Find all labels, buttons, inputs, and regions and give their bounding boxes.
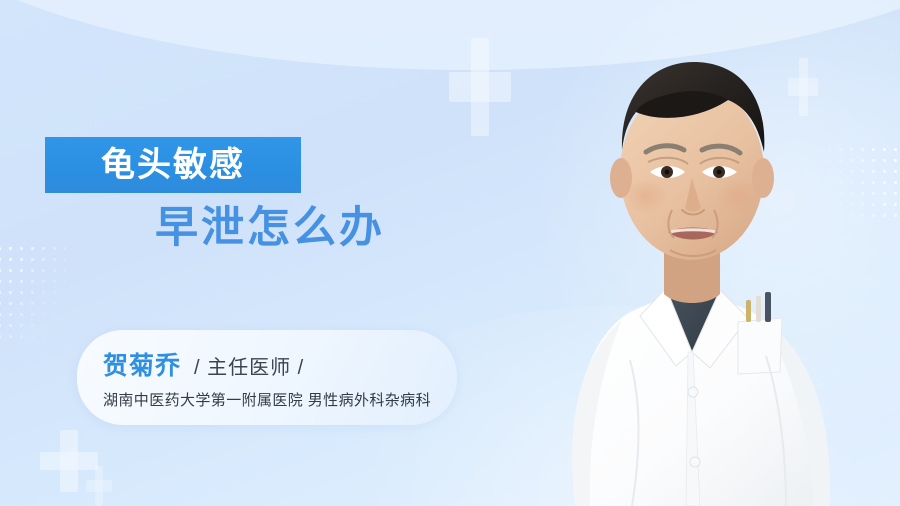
title-badge: 龟头敏感 xyxy=(45,137,301,193)
doctor-portrait xyxy=(480,0,900,506)
doctor-name: 贺菊乔 xyxy=(103,346,181,382)
doctor-affiliation: 湖南中医药大学第一附属医院 男性病外科杂病科 xyxy=(103,389,433,410)
dot-grid-pattern xyxy=(0,243,66,339)
doctor-head xyxy=(610,62,774,260)
video-cover-canvas: 龟头敏感 早泄怎么办 贺菊乔 / 主任医师 / 湖南中医药大学第一附属医院 男性… xyxy=(0,0,900,506)
lab-coat xyxy=(572,276,830,506)
medical-cross-icon xyxy=(86,466,112,506)
doctor-title: / 主任医师 / xyxy=(194,351,304,380)
doctor-info-card: 贺菊乔 / 主任医师 / 湖南中医药大学第一附属医院 男性病外科杂病科 xyxy=(77,330,457,425)
headline-block: 龟头敏感 早泄怎么办 xyxy=(45,137,301,193)
title-subtitle: 早泄怎么办 xyxy=(155,207,385,250)
title-badge-text: 龟头敏感 xyxy=(101,148,245,182)
doctor-name-row: 贺菊乔 / 主任医师 / xyxy=(103,346,433,382)
